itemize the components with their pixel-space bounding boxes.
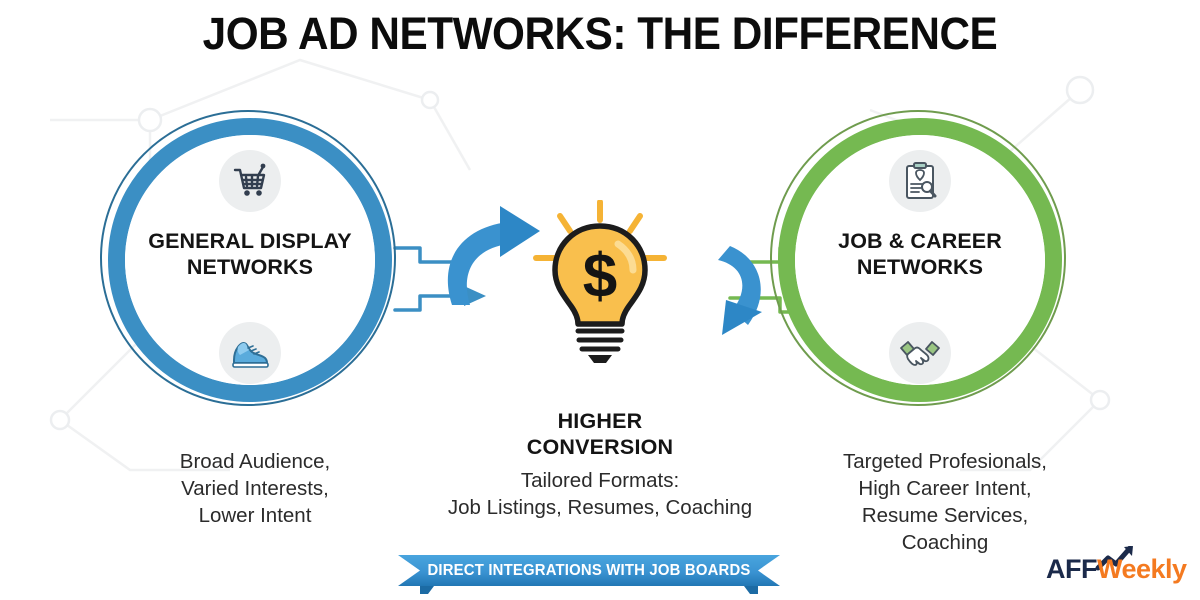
right-circle-label-line1: JOB & CAREER xyxy=(792,228,1048,254)
handshake-icon xyxy=(899,334,941,372)
resume-document-search-icon xyxy=(900,161,940,201)
left-circle-label-line1: GENERAL DISPLAY xyxy=(122,228,378,254)
shopping-cart-icon xyxy=(230,161,270,201)
shopping-cart-icon-badge xyxy=(219,150,281,212)
right-caption: Targeted Profesionals, High Career Inten… xyxy=(795,448,1095,556)
sneaker-shoe-icon-badge xyxy=(219,322,281,384)
center-heading: HIGHER CONVERSION xyxy=(400,408,800,460)
ribbon-label: DIRECT INTEGRATIONS WITH JOB BOARDS xyxy=(406,555,773,587)
ribbon-banner: DIRECT INTEGRATIONS WITH JOB BOARDS xyxy=(398,555,780,595)
right-circle-label: JOB & CAREER NETWORKS xyxy=(792,228,1048,280)
left-circle-label-line2: NETWORKS xyxy=(122,254,378,280)
center-heading-line1: HIGHER xyxy=(400,408,800,434)
svg-text:$: $ xyxy=(583,242,617,311)
infographic-canvas: JOB AD NETWORKS: THE DIFFERENCE xyxy=(0,0,1200,600)
right-caption-line1: Targeted Profesionals, xyxy=(795,448,1095,475)
lightbulb-dollar-icon: $ xyxy=(530,200,670,365)
logo-part-aff: AFF xyxy=(1046,554,1097,584)
right-caption-line3: Resume Services, xyxy=(795,502,1095,529)
center-subtext-line2: Job Listings, Resumes, Coaching xyxy=(400,494,800,521)
logo-text: AFFWeekly xyxy=(1046,554,1187,585)
center-heading-line2: CONVERSION xyxy=(400,434,800,460)
general-display-networks-circle: GENERAL DISPLAY NETWORKS xyxy=(100,110,400,410)
left-caption-line3: Lower Intent xyxy=(110,502,400,529)
handshake-icon-badge xyxy=(889,322,951,384)
resume-document-search-icon-badge xyxy=(889,150,951,212)
left-caption-line2: Varied Interests, xyxy=(110,475,400,502)
curved-arrow-left-icon xyxy=(718,246,762,335)
curved-arrow-right-icon xyxy=(448,206,540,305)
logo-part-weekly: Weekly xyxy=(1097,554,1187,584)
affweekly-logo: AFFWeekly xyxy=(1046,546,1192,590)
center-subtext-line1: Tailored Formats: xyxy=(400,467,800,494)
center-caption: HIGHER CONVERSION Tailored Formats: Job … xyxy=(400,408,800,521)
left-caption-line1: Broad Audience, xyxy=(110,448,400,475)
job-career-networks-circle: JOB & CAREER NETWORKS xyxy=(770,110,1070,410)
right-caption-line2: High Career Intent, xyxy=(795,475,1095,502)
left-caption: Broad Audience, Varied Interests, Lower … xyxy=(110,448,400,529)
center-subtext: Tailored Formats: Job Listings, Resumes,… xyxy=(400,467,800,521)
left-circle-label: GENERAL DISPLAY NETWORKS xyxy=(122,228,378,280)
right-circle-label-line2: NETWORKS xyxy=(792,254,1048,280)
sneaker-shoe-icon xyxy=(229,333,271,373)
